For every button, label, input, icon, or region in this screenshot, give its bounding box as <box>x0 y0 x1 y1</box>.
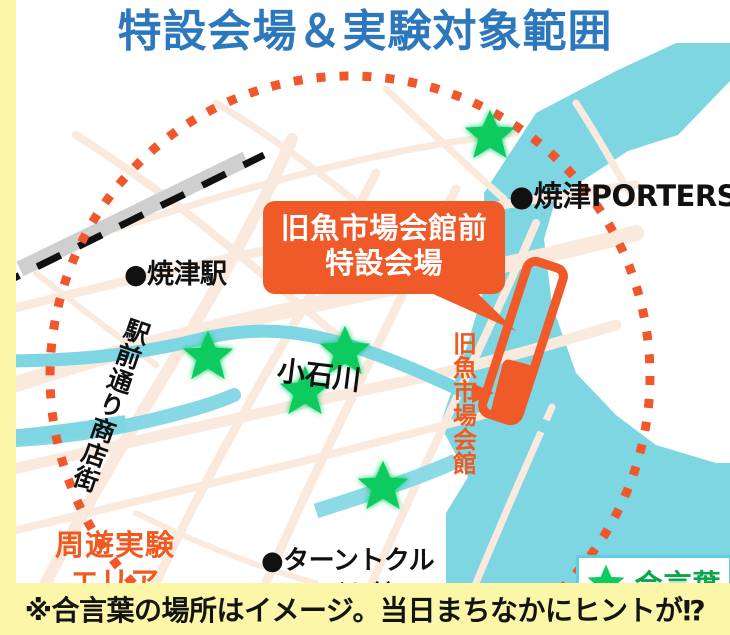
experiment-area-label: 周遊実験 エリア <box>30 527 200 583</box>
left-yellow-strip <box>0 0 16 635</box>
venue-callout-line2: 特設会場 <box>269 246 499 281</box>
map-label-turntokuru-line1: ●ターントクル <box>261 540 434 577</box>
venue-callout: 旧魚市場会館前 特設会場 <box>263 201 505 294</box>
experiment-area-label-line1: 周遊実験 <box>30 527 200 564</box>
map-graphics <box>16 43 730 583</box>
venue-callout-line1: 旧魚市場会館前 <box>269 211 499 246</box>
legend-box: 合言葉 <box>576 555 730 583</box>
legend-label: 合言葉 <box>634 563 721 583</box>
experiment-area-label-line2: エリア <box>30 564 200 583</box>
footer-note: ※合言葉の場所はイメージ。当日まちなかにヒントが⁉ <box>25 589 706 629</box>
page-title: 特設会場＆実験対象範囲 <box>118 10 613 54</box>
map-label-yaizu-station: ●焼津駅 <box>124 252 227 291</box>
poster-root: ●焼津PORTERS ●焼津駅 小石川 駅前通り商店街 旧魚市場会館 ●ターント… <box>0 0 730 635</box>
poster-header: 特設会場＆実験対象範囲 <box>0 0 730 62</box>
map-label-porters: ●焼津PORTERS <box>509 173 730 215</box>
map-label-turntokuru-line2: こども館 <box>294 575 396 583</box>
map-label-kyu-uoichiba-kaikan: 旧魚市場会館 <box>450 331 474 475</box>
poster-footer: ※合言葉の場所はイメージ。当日まちなかにヒントが⁉ <box>0 583 730 635</box>
star-icon <box>586 563 626 583</box>
map-canvas: ●焼津PORTERS ●焼津駅 小石川 駅前通り商店街 旧魚市場会館 ●ターント… <box>16 43 730 583</box>
